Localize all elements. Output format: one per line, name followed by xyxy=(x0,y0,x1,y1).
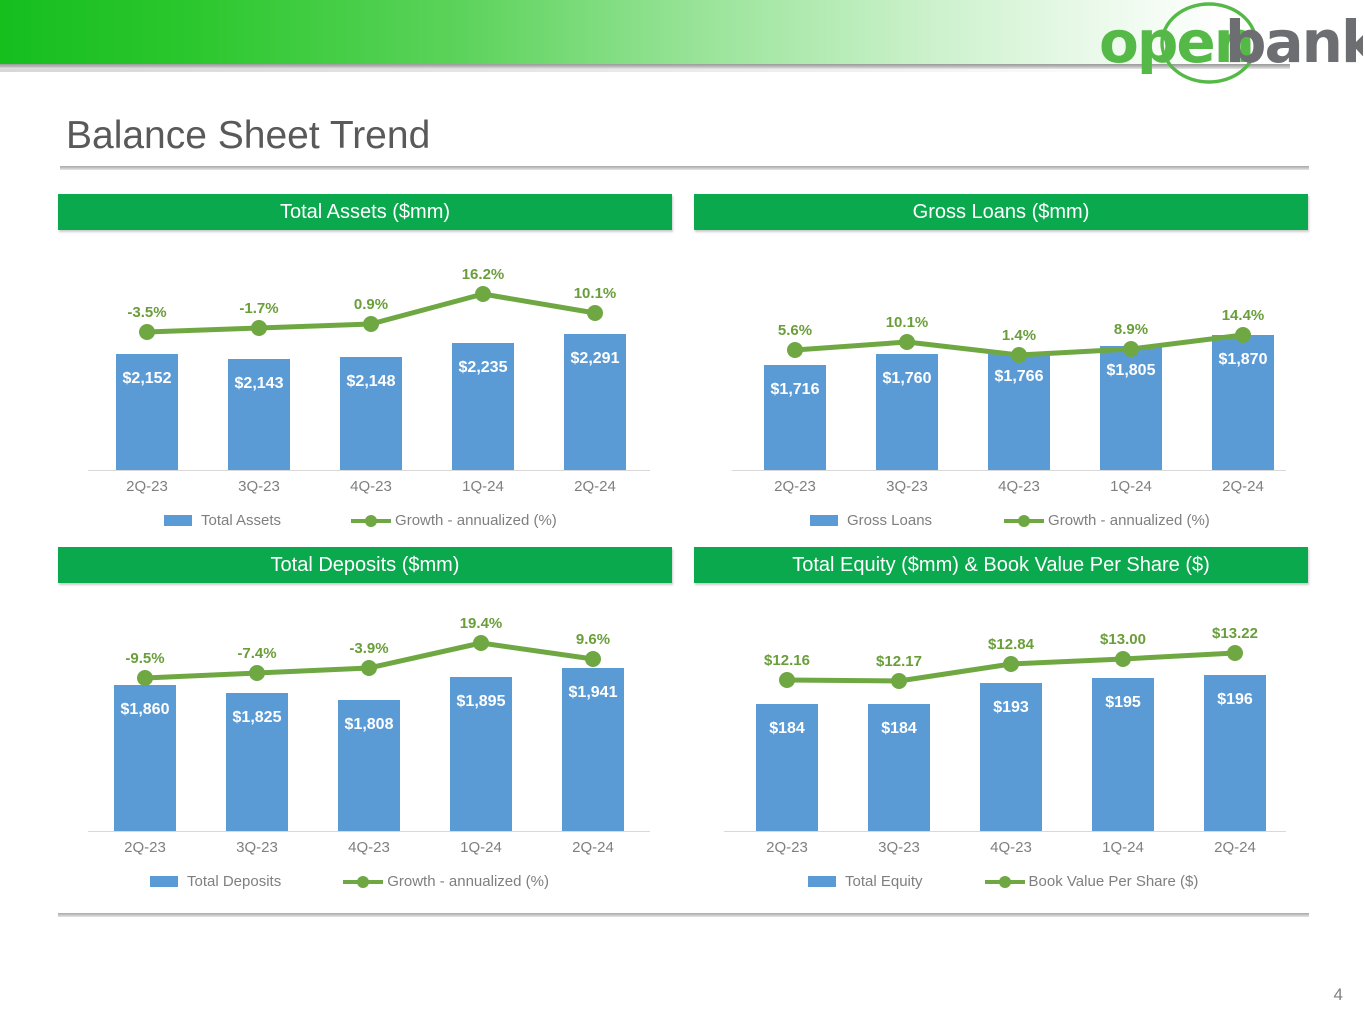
legend-label: Total Assets xyxy=(201,512,281,529)
x-axis-label: 4Q-23 xyxy=(961,839,1061,856)
x-axis-labels: 2Q-233Q-234Q-231Q-242Q-24 xyxy=(694,478,1308,502)
line-marker xyxy=(1003,656,1019,672)
chart-title: Total Equity ($mm) & Book Value Per Shar… xyxy=(694,547,1308,583)
legend-label: Book Value Per Share ($) xyxy=(1029,873,1199,890)
x-axis-line xyxy=(88,470,650,471)
legend-item-line-series[interactable]: Growth - annualized (%) xyxy=(351,512,557,529)
line-marker xyxy=(363,316,379,332)
x-axis-labels: 2Q-233Q-234Q-231Q-242Q-24 xyxy=(58,839,672,863)
x-axis-line xyxy=(88,831,650,832)
legend-item-line-series[interactable]: Growth - annualized (%) xyxy=(1004,512,1210,529)
legend-label: Total Deposits xyxy=(187,873,281,890)
line-marker xyxy=(1235,327,1251,343)
line-marker xyxy=(899,334,915,350)
line-marker xyxy=(361,660,377,676)
line-marker xyxy=(1227,645,1243,661)
x-axis-label: 3Q-23 xyxy=(207,839,307,856)
legend-item-line-series[interactable]: Book Value Per Share ($) xyxy=(985,873,1199,890)
legend-label: Growth - annualized (%) xyxy=(387,873,549,890)
line-marker xyxy=(1011,347,1027,363)
line-marker xyxy=(587,305,603,321)
legend-item-bar-series[interactable]: Total Assets xyxy=(164,512,281,529)
line-marker xyxy=(787,342,803,358)
line-marker xyxy=(779,672,795,688)
legend-item-bar-series[interactable]: Gross Loans xyxy=(810,512,932,529)
plot-area: $1,860-9.5%$1,825-7.4%$1,808-3.9%$1,8951… xyxy=(58,591,672,831)
banner-shadow-line-secondary xyxy=(0,69,1180,72)
legend-item-bar-series[interactable]: Total Deposits xyxy=(150,873,281,890)
legend-line-marker-icon xyxy=(1004,513,1044,529)
x-axis-label: 1Q-24 xyxy=(431,839,531,856)
trend-line xyxy=(694,238,1308,470)
legend-item-line-series[interactable]: Growth - annualized (%) xyxy=(343,873,549,890)
chart-card: Total Assets ($mm)$2,152-3.5%$2,143-1.7%… xyxy=(58,194,672,502)
line-marker xyxy=(137,670,153,686)
page-number: 4 xyxy=(1334,985,1343,1005)
openbank-logo: open bank xyxy=(1097,2,1363,84)
trend-line xyxy=(58,591,672,831)
x-axis-label: 4Q-23 xyxy=(321,478,421,495)
page-title: Balance Sheet Trend xyxy=(66,114,430,158)
x-axis-label: 1Q-24 xyxy=(1081,478,1181,495)
legend-line-marker-icon xyxy=(351,513,391,529)
x-axis-label: 2Q-23 xyxy=(737,839,837,856)
line-marker xyxy=(1123,341,1139,357)
x-axis-labels: 2Q-233Q-234Q-231Q-242Q-24 xyxy=(58,478,672,502)
legend-label: Growth - annualized (%) xyxy=(1048,512,1210,529)
legend-line-marker-icon xyxy=(343,874,383,890)
line-marker xyxy=(475,286,491,302)
chart-title: Total Assets ($mm) xyxy=(58,194,672,230)
x-axis-label: 3Q-23 xyxy=(209,478,309,495)
title-divider xyxy=(60,166,1309,170)
chart-card: Gross Loans ($mm)$1,7165.6%$1,76010.1%$1… xyxy=(694,194,1308,502)
x-axis-line xyxy=(732,470,1286,471)
x-axis-label: 3Q-23 xyxy=(849,839,949,856)
plot-area: $2,152-3.5%$2,143-1.7%$2,1480.9%$2,23516… xyxy=(58,238,672,470)
line-marker xyxy=(251,320,267,336)
x-axis-label: 2Q-24 xyxy=(1185,839,1285,856)
legend-label: Growth - annualized (%) xyxy=(395,512,557,529)
chart-legend: Total AssetsGrowth - annualized (%) xyxy=(164,512,557,529)
x-axis-label: 2Q-24 xyxy=(543,839,643,856)
line-marker xyxy=(473,635,489,651)
chart-title: Total Deposits ($mm) xyxy=(58,547,672,583)
line-marker xyxy=(139,324,155,340)
x-axis-label: 4Q-23 xyxy=(969,478,1069,495)
legend-item-bar-series[interactable]: Total Equity xyxy=(808,873,923,890)
chart-card: Total Deposits ($mm)$1,860-9.5%$1,825-7.… xyxy=(58,547,672,863)
line-marker xyxy=(249,665,265,681)
legend-label: Total Equity xyxy=(845,873,923,890)
x-axis-label: 2Q-23 xyxy=(745,478,845,495)
chart-card: Total Equity ($mm) & Book Value Per Shar… xyxy=(694,547,1308,863)
legend-bar-swatch-icon xyxy=(808,876,836,887)
legend-bar-swatch-icon xyxy=(810,515,838,526)
x-axis-label: 1Q-24 xyxy=(1073,839,1173,856)
x-axis-label: 2Q-23 xyxy=(97,478,197,495)
x-axis-label: 3Q-23 xyxy=(857,478,957,495)
x-axis-label: 2Q-24 xyxy=(1193,478,1293,495)
plot-area: $1,7165.6%$1,76010.1%$1,7661.4%$1,8058.9… xyxy=(694,238,1308,470)
line-marker xyxy=(891,673,907,689)
x-axis-label: 4Q-23 xyxy=(319,839,419,856)
line-marker xyxy=(1115,651,1131,667)
x-axis-label: 2Q-23 xyxy=(95,839,195,856)
x-axis-label: 1Q-24 xyxy=(433,478,533,495)
legend-bar-swatch-icon xyxy=(150,876,178,887)
chart-legend: Total DepositsGrowth - annualized (%) xyxy=(150,873,549,890)
chart-legend: Total EquityBook Value Per Share ($) xyxy=(808,873,1198,890)
x-axis-label: 2Q-24 xyxy=(545,478,645,495)
chart-legend: Gross LoansGrowth - annualized (%) xyxy=(810,512,1210,529)
legend-bar-swatch-icon xyxy=(164,515,192,526)
bottom-divider xyxy=(58,913,1309,917)
logo-bank-text: bank xyxy=(1225,8,1363,76)
legend-line-marker-icon xyxy=(985,874,1025,890)
plot-area: $184$12.16$184$12.17$193$12.84$195$13.00… xyxy=(694,591,1308,831)
trend-line xyxy=(694,591,1308,831)
chart-title: Gross Loans ($mm) xyxy=(694,194,1308,230)
trend-line xyxy=(58,238,672,470)
line-marker xyxy=(585,651,601,667)
x-axis-labels: 2Q-233Q-234Q-231Q-242Q-24 xyxy=(694,839,1308,863)
x-axis-line xyxy=(724,831,1286,832)
legend-label: Gross Loans xyxy=(847,512,932,529)
